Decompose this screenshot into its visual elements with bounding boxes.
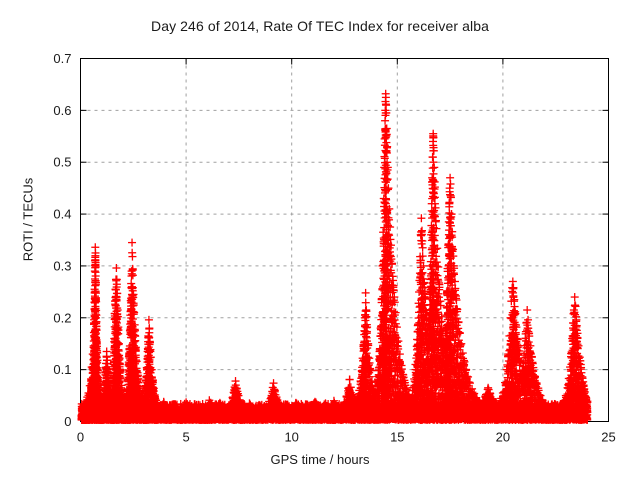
plot-canvas: 00.10.20.30.40.50.60.70510152025 (0, 0, 640, 480)
data-points-roti (78, 90, 592, 424)
roti-scatter-plot: Day 246 of 2014, Rate Of TEC Index for r… (0, 0, 640, 480)
y-axis-label: ROTI / TECUs (21, 140, 36, 300)
x-axis-label: GPS time / hours (0, 452, 640, 467)
